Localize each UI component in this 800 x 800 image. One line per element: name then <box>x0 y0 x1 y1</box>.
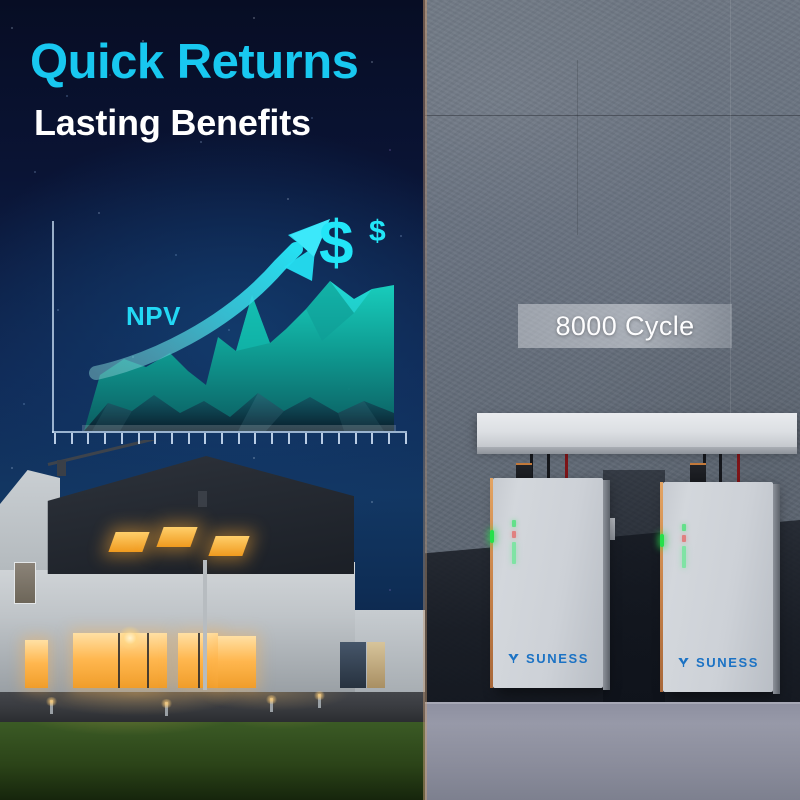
garden-light <box>50 700 53 714</box>
window-mullion <box>118 633 120 688</box>
dollar-symbol-large: $ <box>319 213 353 275</box>
roof-skylight <box>208 536 249 556</box>
wall-seam-horizontal <box>425 115 800 116</box>
side-power-led-icon <box>490 530 494 543</box>
window-right-wing <box>340 642 366 688</box>
wooden-door <box>367 642 385 688</box>
dollar-symbol-small: $ <box>369 217 386 247</box>
chimney <box>198 491 207 507</box>
battery-unit-right[interactable]: SUNESS <box>663 482 773 692</box>
window-louver <box>14 562 36 604</box>
brand-name: SUNESS <box>696 655 759 670</box>
chart-x-ticks <box>54 433 407 445</box>
chimney <box>57 460 66 476</box>
brand-lockup: SUNESS <box>663 655 773 670</box>
downpipe <box>203 560 207 690</box>
status-led-group <box>512 520 516 564</box>
unit-side-panel <box>603 480 610 690</box>
wall-seam-vertical <box>577 60 578 235</box>
unit-side-panel <box>773 484 780 694</box>
house-illustration <box>0 440 425 800</box>
chart-polygons <box>54 255 406 431</box>
promo-banner: Quick Returns Lasting Benefits <box>0 0 800 800</box>
interior-lamp-glow <box>118 626 142 650</box>
window-small-left <box>25 640 48 688</box>
panel-divider <box>423 0 427 800</box>
house-roof <box>2 456 354 574</box>
status-led-red-icon <box>682 535 686 542</box>
window-study <box>218 636 256 688</box>
chart-series-label: NPV <box>126 301 181 332</box>
headline-block: Quick Returns Lasting Benefits <box>30 38 410 141</box>
charge-level-bar-icon <box>512 542 516 564</box>
roof-skylight <box>108 532 149 552</box>
brand-lockup: SUNESS <box>493 651 603 666</box>
cycle-count-banner: 8000 Cycle <box>518 304 732 348</box>
status-led-red-icon <box>512 531 516 538</box>
cable-trunking <box>477 413 797 447</box>
cycle-count-label: 8000 Cycle <box>555 311 694 342</box>
status-led-green-icon <box>512 520 516 527</box>
status-led-group <box>682 524 686 568</box>
npv-growth-chart: NPV $ $ <box>30 205 410 455</box>
garden-light <box>270 698 273 712</box>
window-mullion <box>147 633 149 688</box>
headline-secondary: Lasting Benefits <box>34 105 410 141</box>
window-mullion <box>198 633 200 688</box>
charge-level-bar-icon <box>682 546 686 568</box>
side-power-led-icon <box>660 534 664 547</box>
battery-unit-left[interactable]: SUNESS <box>493 478 603 688</box>
garden-light <box>318 694 321 708</box>
right-scene-panel: 8000 Cycle <box>425 0 800 800</box>
left-scene-panel: Quick Returns Lasting Benefits <box>0 0 425 800</box>
brand-name: SUNESS <box>526 651 589 666</box>
headline-primary: Quick Returns <box>30 38 410 87</box>
roof-skylight <box>156 527 197 547</box>
wall-seam-vertical <box>730 0 731 430</box>
suness-logo-icon <box>677 656 690 669</box>
garden-light <box>165 702 168 716</box>
suness-logo-icon <box>507 652 520 665</box>
concrete-floor <box>425 702 800 800</box>
status-led-green-icon <box>682 524 686 531</box>
chart-area-series <box>54 255 406 431</box>
between-units-shadow <box>603 470 665 705</box>
